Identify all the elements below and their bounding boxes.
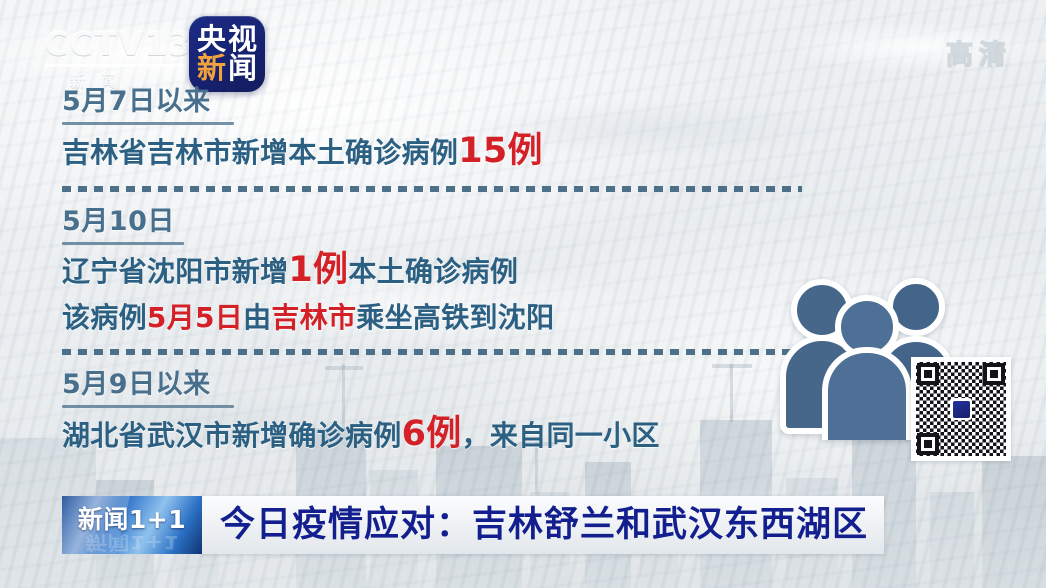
- badge-char-wen: 闻: [228, 54, 257, 83]
- news-text: 乘坐高铁到沈阳: [356, 301, 554, 334]
- news-text: 本土确诊病例: [348, 255, 518, 288]
- qr-finder-top-left: [917, 363, 939, 385]
- qr-center-logo: [950, 398, 972, 420]
- cctv-logo-number: 13: [145, 24, 193, 63]
- news-block-2-underline: [62, 242, 184, 245]
- badge-char-yang: 央: [197, 25, 226, 54]
- news-highlight: 1例: [288, 250, 348, 290]
- news-highlight: 6例: [402, 414, 462, 454]
- cctv-news-badge: 央 视 新 闻: [189, 16, 265, 92]
- qr-finder-bottom-left: [917, 433, 939, 455]
- news-block-1-dateline: 5月7日以来: [62, 88, 211, 116]
- cctv-news-qr-code[interactable]: [911, 357, 1011, 461]
- news-block-1-underline: [62, 122, 234, 125]
- news-block-3-underline: [62, 405, 234, 408]
- news-text: ，来自同一小区: [462, 419, 660, 452]
- news-block-3-dateline: 5月9日以来: [62, 371, 211, 399]
- qr-matrix: [916, 362, 1006, 456]
- news-block-2-line-1: 辽宁省沈阳市新增1例本土确诊病例: [62, 253, 554, 291]
- news-highlight: 5月5日: [147, 301, 243, 334]
- news-highlight: 15例: [458, 131, 543, 171]
- news-block-2: 5月10日 辽宁省沈阳市新增1例本土确诊病例 该病例5月5日由吉林市乘坐高铁到沈…: [62, 208, 554, 338]
- news-text: 该病例: [62, 301, 147, 334]
- qr-finder-top-right: [983, 363, 1005, 385]
- news-block-3-line-1: 湖北省武汉市新增确诊病例6例，来自同一小区: [62, 417, 660, 455]
- cctv13-channel-logo: CCTV13 新闻: [44, 26, 192, 90]
- badge-char-xin: 新: [197, 54, 226, 83]
- separator-2: [62, 349, 802, 355]
- banner-title-text: 今日疫情应对：吉林舒兰和武汉东西湖区: [220, 508, 868, 543]
- program-logo-label: 新闻1+1: [78, 507, 186, 532]
- news-highlight: 吉林市: [271, 301, 356, 334]
- news-text: 湖北省武汉市新增确诊病例: [62, 419, 402, 452]
- broadcast-frame: CCTV13 新闻 央 视 新 闻 高清 5月7日以来 吉林省吉林市新增本土确诊…: [0, 0, 1046, 588]
- news-block-2-line-2: 该病例5月5日由吉林市乘坐高铁到沈阳: [62, 299, 554, 337]
- news-text: 辽宁省沈阳市新增: [62, 255, 288, 288]
- lower-third-banner: 新闻1+1 新闻1+1 今日疫情应对：吉林舒兰和武汉东西湖区: [62, 496, 884, 554]
- news-block-1: 5月7日以来 吉林省吉林市新增本土确诊病例15例: [62, 88, 543, 172]
- news-text: 由: [243, 301, 271, 334]
- cctv-logo-text: CCTV: [44, 24, 145, 63]
- news-text: 吉林省吉林市新增本土确诊病例: [62, 136, 458, 169]
- news-block-2-dateline: 5月10日: [62, 208, 175, 236]
- hd-watermark: 高清: [946, 33, 1012, 72]
- cctv-logo-bar: [44, 64, 184, 67]
- badge-char-shi: 视: [228, 25, 257, 54]
- program-logo-news-1-plus-1: 新闻1+1 新闻1+1: [62, 496, 202, 554]
- banner-title-bar: 今日疫情应对：吉林舒兰和武汉东西湖区: [202, 496, 884, 554]
- news-block-3: 5月9日以来 湖北省武汉市新增确诊病例6例，来自同一小区: [62, 371, 660, 455]
- program-logo-reflection: 新闻1+1: [62, 532, 202, 551]
- separator-1: [62, 186, 802, 192]
- news-block-1-line-1: 吉林省吉林市新增本土确诊病例15例: [62, 134, 543, 172]
